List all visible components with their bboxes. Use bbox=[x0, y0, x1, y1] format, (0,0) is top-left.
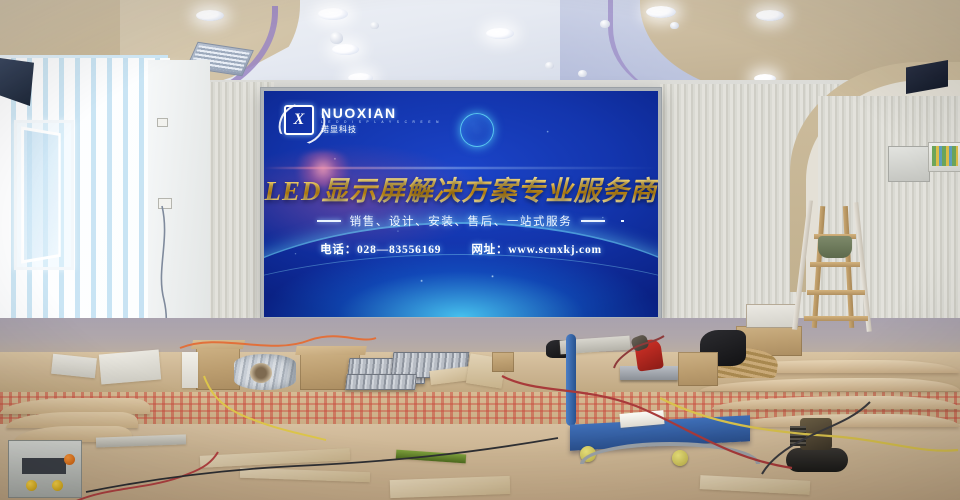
phone-value: 028—83556169 bbox=[357, 244, 441, 256]
ceiling-speaker-icon bbox=[370, 22, 379, 29]
led-cabinet-frame-3[interactable] bbox=[345, 374, 417, 390]
white-carton[interactable] bbox=[746, 304, 798, 328]
decorative-dash-right bbox=[581, 220, 605, 222]
open-casement-window[interactable] bbox=[21, 126, 61, 263]
ceiling-speaker-icon bbox=[600, 20, 610, 28]
wall-outlet[interactable] bbox=[157, 118, 168, 127]
screen-globe-icon bbox=[460, 113, 494, 147]
downlight bbox=[486, 28, 514, 39]
led-video-wall[interactable]: X NUOXIAN L E D D I S P L A Y S C R E E … bbox=[261, 88, 661, 320]
room-photo-scene: X NUOXIAN L E D D I S P L A Y S C R E E … bbox=[0, 0, 960, 500]
logo-text-block: NUOXIAN L E D D I S P L A Y S C R E E N … bbox=[321, 106, 441, 135]
paint-bucket[interactable] bbox=[818, 236, 852, 258]
black-cable-left bbox=[86, 430, 566, 500]
screen-contact-line: 电话：028—83556169网址：www.scnxkj.com bbox=[264, 241, 658, 257]
screen-headline: LED显示屏解决方案专业服务商 bbox=[264, 169, 658, 208]
wall-unit-graphic bbox=[932, 146, 958, 166]
web-value: www.scnxkj.com bbox=[508, 244, 602, 256]
downlight bbox=[332, 44, 359, 55]
ceiling-speaker-icon bbox=[578, 70, 587, 77]
web-label: 网址： bbox=[471, 244, 508, 256]
debris-pile-left bbox=[99, 349, 161, 384]
ceiling-speaker-icon bbox=[545, 62, 554, 69]
brand-name-cn: 诺显科技 bbox=[321, 126, 441, 134]
small-box[interactable] bbox=[492, 352, 514, 372]
downlight bbox=[196, 10, 224, 21]
downlight bbox=[756, 10, 784, 21]
led-screen-content: X NUOXIAN L E D D I S P L A Y S C R E E … bbox=[264, 91, 658, 317]
screen-subline: 销售、设计、安装、售后、一站式服务 bbox=[264, 213, 658, 229]
orange-cable bbox=[180, 330, 380, 360]
step-ladder[interactable] bbox=[800, 200, 872, 330]
logo-mark-icon: X bbox=[284, 105, 314, 135]
ceiling-speaker-icon bbox=[670, 22, 679, 29]
ribbed-wall-panel-mid bbox=[660, 84, 810, 334]
screen-subline-text: 销售、设计、安装、售后、一站式服务 bbox=[350, 213, 573, 229]
decorative-dash-left bbox=[317, 220, 341, 222]
downlight bbox=[318, 8, 348, 20]
brand-tagline: L E D D I S P L A Y S C R E E N bbox=[321, 121, 441, 124]
brand-name-en: NUOXIAN bbox=[321, 106, 441, 120]
downlight bbox=[646, 6, 676, 18]
brand-logo: X NUOXIAN L E D D I S P L A Y S C R E E … bbox=[284, 105, 441, 135]
electrical-panel[interactable] bbox=[888, 146, 930, 182]
ceiling-speaker-icon bbox=[330, 32, 343, 44]
compressor-hose bbox=[760, 398, 880, 478]
power-lead-saw bbox=[612, 330, 672, 370]
screen-arc-glow-secondary bbox=[264, 254, 658, 317]
phone-label: 电话： bbox=[320, 244, 357, 256]
